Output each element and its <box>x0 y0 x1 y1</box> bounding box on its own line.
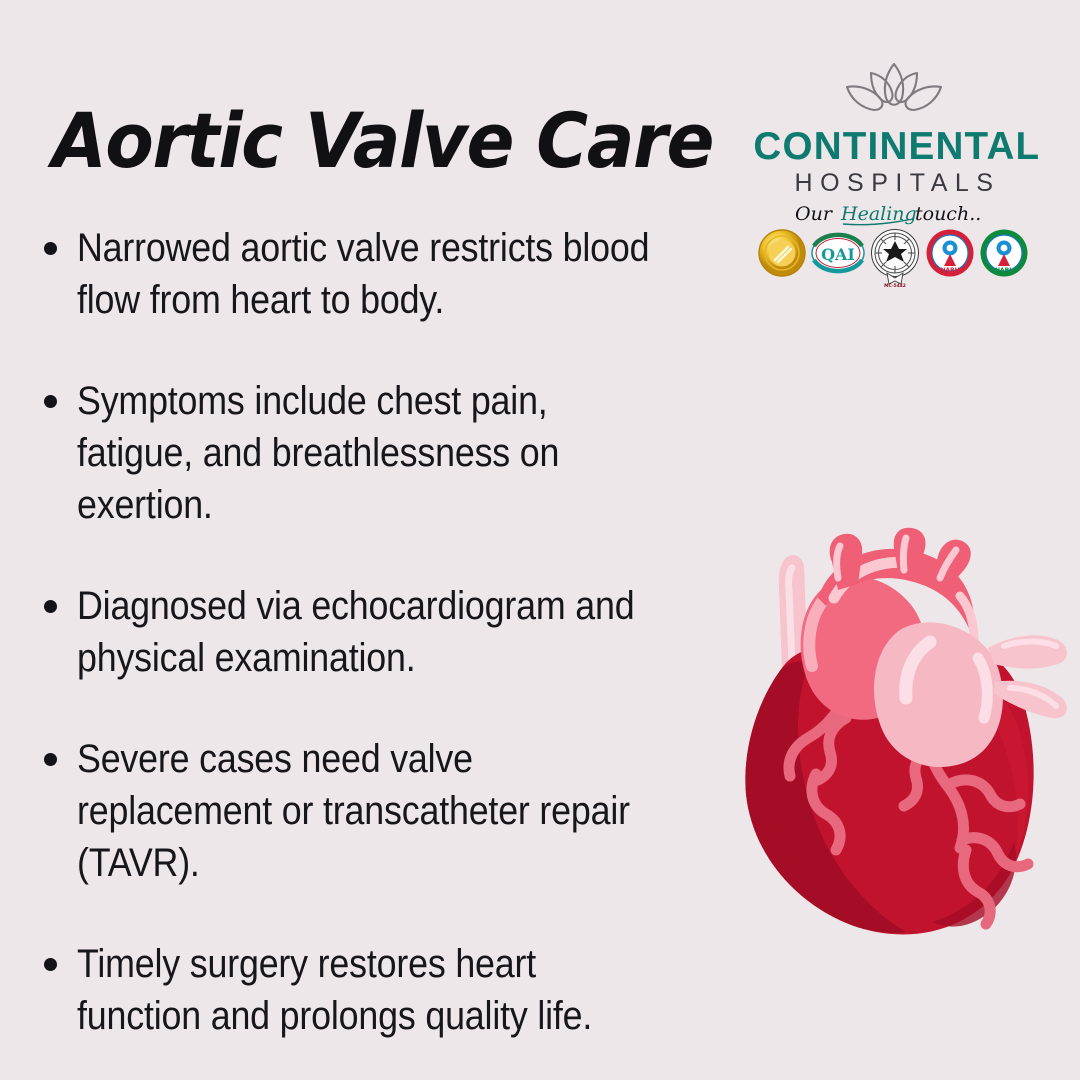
tagline-script: Our Healing touch.. <box>789 199 999 229</box>
brand-name: CONTINENTAL <box>753 126 1034 168</box>
left-atrium <box>874 622 1003 767</box>
aortic-branch-vessels <box>830 528 971 590</box>
jci-star-badge: MC-5442 <box>869 228 921 288</box>
list-item: Diagnosed via echocardiogram and physica… <box>44 580 734 684</box>
list-item: Severe cases need valve replacement or t… <box>44 733 734 889</box>
page-title: Aortic Valve Care <box>52 98 647 184</box>
bullet-dot-icon <box>44 242 57 255</box>
list-item-text: Symptoms include chest pain, fatigue, an… <box>77 375 665 531</box>
jci-badge-label: MC-5442 <box>884 283 906 288</box>
list-item-text: Severe cases need valve replacement or t… <box>77 733 665 889</box>
bullet-dot-icon <box>44 600 57 613</box>
brand-tagline: Our Healing touch.. <box>752 199 1036 231</box>
list-item: Narrowed aortic valve restricts blood fl… <box>44 222 734 326</box>
nabh-badge: NABH <box>925 228 975 278</box>
brand-subtitle: HOSPITALS <box>752 168 1036 198</box>
list-item-text: Narrowed aortic valve restricts blood fl… <box>77 222 665 326</box>
tagline-suffix: touch.. <box>915 203 981 225</box>
anatomical-heart-illustration <box>722 522 1080 952</box>
qai-badge: QAI <box>811 228 865 278</box>
gold-medal-badge <box>757 228 807 278</box>
lotus-icon <box>834 58 954 120</box>
list-item-text: Timely surgery restores heart function a… <box>77 938 665 1042</box>
bullet-dot-icon <box>44 395 57 408</box>
nabl-badge: NABL <box>979 228 1029 278</box>
accreditation-badges: QAI MC-5442 <box>757 228 1029 288</box>
qai-badge-label: QAI <box>821 245 855 264</box>
tagline-highlight: Healing <box>840 203 917 225</box>
nabl-badge-label: NABL <box>995 267 1013 274</box>
brand-logo: CONTINENTAL HOSPITALS Our Healing touch.… <box>752 58 1036 231</box>
list-item: Symptoms include chest pain, fatigue, an… <box>44 375 734 531</box>
tagline-prefix: Our <box>795 203 834 225</box>
list-item-text: Diagnosed via echocardiogram and physica… <box>77 580 665 684</box>
bullet-dot-icon <box>44 958 57 971</box>
nabh-badge-label: NABH <box>940 267 959 274</box>
list-item: Timely surgery restores heart function a… <box>44 938 734 1042</box>
bullet-dot-icon <box>44 753 57 766</box>
bullet-list: Narrowed aortic valve restricts blood fl… <box>44 222 734 1042</box>
poster-canvas: Aortic Valve Care Narrowed aortic valve … <box>0 0 1080 1080</box>
